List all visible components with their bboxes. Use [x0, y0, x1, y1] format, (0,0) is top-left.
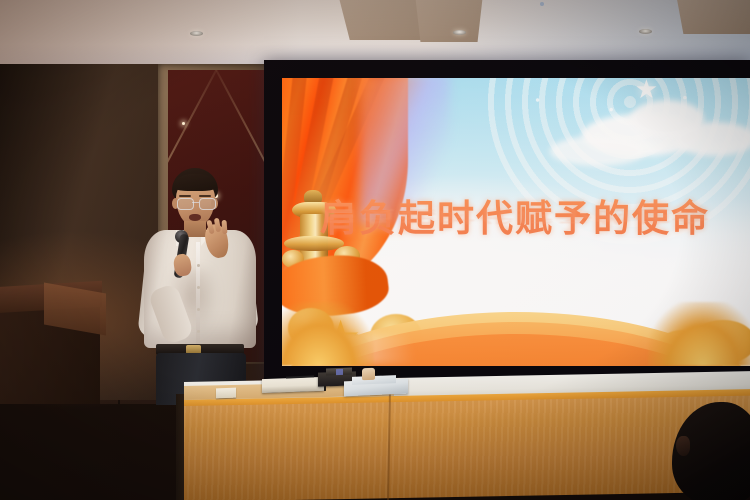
presentation-photo: ★ ★ ★: [0, 0, 750, 500]
speaker-hair-front: [173, 174, 217, 191]
ceiling-panel: [415, 0, 483, 42]
speaker-finger: [214, 218, 221, 233]
desk-front-panel: [184, 396, 750, 500]
ceiling-warm-tint: [0, 0, 300, 72]
slide-title: 肩负起时代赋予的使命: [282, 188, 750, 242]
audience-member-ear: [676, 436, 690, 456]
ceiling-panel: [676, 0, 750, 34]
eyeglasses-lens-left: [177, 198, 194, 210]
ceiling-downlight: [639, 29, 652, 34]
door-inlay-sparkle: [182, 122, 185, 125]
paper-cup[interactable]: [362, 368, 375, 380]
speaker-eyebrow: [199, 195, 211, 197]
speaker-eyebrow: [179, 195, 191, 197]
wood-grain: [184, 396, 750, 500]
ceiling-downlight: [453, 30, 466, 35]
projection-screen: ★ ★ ★: [282, 78, 750, 366]
ceiling-sensor-dot: [540, 2, 544, 6]
corner-gold-glow: [648, 302, 750, 366]
small-blue-object: [336, 369, 343, 375]
eyeglasses-lens-right: [199, 198, 216, 210]
ceiling-downlight: [190, 31, 203, 36]
eyeglasses-bridge: [192, 202, 199, 203]
cloud: [674, 122, 750, 156]
speaker: [120, 168, 290, 404]
notepad[interactable]: [262, 377, 324, 393]
cloud: [550, 136, 646, 166]
corner-gold-glow: [282, 302, 374, 366]
speaker-mouth: [189, 214, 201, 221]
star-icon: ★: [635, 78, 658, 102]
name-card-holder[interactable]: [216, 388, 236, 399]
speaker-finger: [222, 220, 228, 234]
